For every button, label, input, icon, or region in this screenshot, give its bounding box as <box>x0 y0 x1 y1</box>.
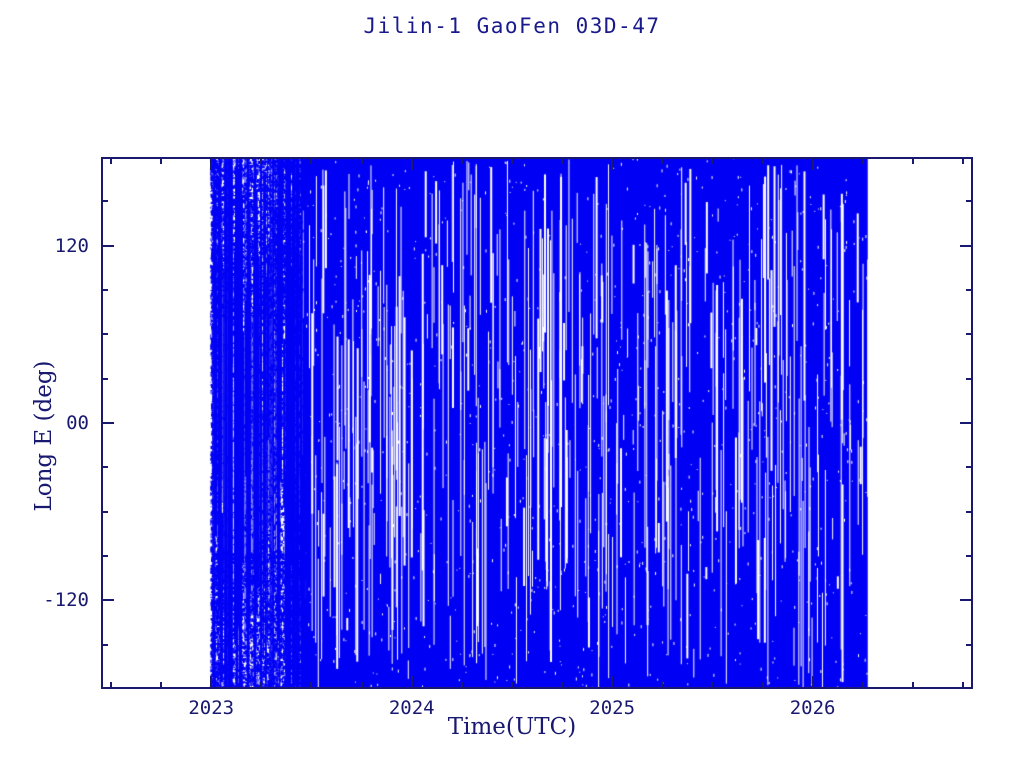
x-minor-tick <box>361 682 363 689</box>
y-minor-tick-right <box>966 333 973 335</box>
x-minor-tick-top <box>912 157 914 164</box>
y-minor-tick-right <box>966 644 973 646</box>
y-axis-title: Long E (deg) <box>31 306 57 566</box>
x-minor-tick-top <box>561 157 563 164</box>
page-title: Jilin-1 GaoFen 03D-47 <box>0 14 1024 38</box>
x-major-tick-top <box>812 157 814 170</box>
x-minor-tick-top <box>260 157 262 164</box>
x-minor-tick-top <box>762 157 764 164</box>
x-minor-tick-top <box>661 157 663 164</box>
scatter-data-layer <box>103 159 971 687</box>
x-minor-tick-top <box>310 157 312 164</box>
y-tick-label: 120 <box>0 235 89 257</box>
x-major-tick <box>611 676 613 689</box>
y-major-tick-right <box>960 599 973 601</box>
x-major-tick-top <box>210 157 212 170</box>
x-minor-tick-top <box>160 157 162 164</box>
y-minor-tick-right <box>966 200 973 202</box>
x-minor-tick-top <box>361 157 363 164</box>
y-minor-tick <box>101 555 108 557</box>
y-minor-tick <box>101 200 108 202</box>
y-minor-tick-right <box>966 555 973 557</box>
x-minor-tick <box>110 682 112 689</box>
x-minor-tick <box>711 682 713 689</box>
x-minor-tick-top <box>711 157 713 164</box>
x-major-tick-top <box>411 157 413 170</box>
x-minor-tick <box>762 682 764 689</box>
y-major-tick <box>101 599 114 601</box>
x-minor-tick-top <box>962 157 964 164</box>
x-minor-tick-top <box>862 157 864 164</box>
y-major-tick <box>101 422 114 424</box>
x-major-tick <box>812 676 814 689</box>
x-minor-tick <box>962 682 964 689</box>
y-minor-tick-right <box>966 378 973 380</box>
x-minor-tick <box>511 682 513 689</box>
x-minor-tick-top <box>511 157 513 164</box>
figure-canvas: Jilin-1 GaoFen 03D-47 202320242025202612… <box>0 0 1024 768</box>
y-minor-tick-right <box>966 511 973 513</box>
y-minor-tick <box>101 289 108 291</box>
x-major-tick <box>210 676 212 689</box>
x-minor-tick-top <box>461 157 463 164</box>
y-minor-tick <box>101 333 108 335</box>
y-minor-tick <box>101 466 108 468</box>
x-minor-tick <box>310 682 312 689</box>
x-minor-tick <box>862 682 864 689</box>
y-minor-tick-right <box>966 466 973 468</box>
y-major-tick-right <box>960 245 973 247</box>
x-minor-tick <box>912 682 914 689</box>
plot-area <box>101 157 973 689</box>
x-minor-tick <box>561 682 563 689</box>
y-minor-tick-right <box>966 289 973 291</box>
y-minor-tick <box>101 644 108 646</box>
x-minor-tick <box>661 682 663 689</box>
plot-clip <box>103 159 971 687</box>
x-minor-tick <box>160 682 162 689</box>
x-axis-title: Time(UTC) <box>0 714 1024 740</box>
y-tick-label: -120 <box>0 589 89 611</box>
y-major-tick <box>101 245 114 247</box>
x-minor-tick <box>260 682 262 689</box>
x-minor-tick-top <box>110 157 112 164</box>
y-minor-tick <box>101 378 108 380</box>
y-minor-tick <box>101 511 108 513</box>
x-major-tick-top <box>611 157 613 170</box>
y-major-tick-right <box>960 422 973 424</box>
x-minor-tick <box>461 682 463 689</box>
x-major-tick <box>411 676 413 689</box>
